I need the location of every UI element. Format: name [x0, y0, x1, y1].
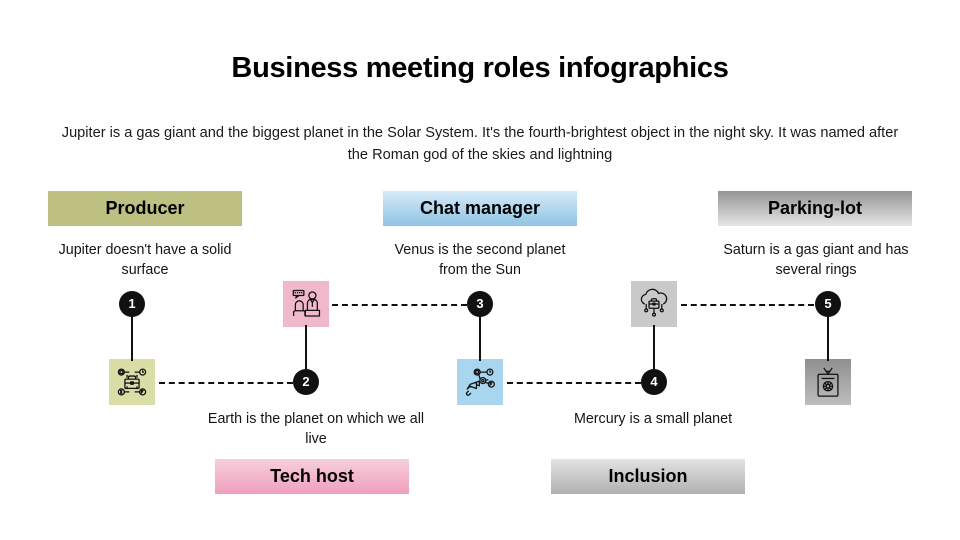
role-description-chat-manager: Venus is the second planet from the Sun	[383, 241, 577, 280]
connector-dashed-1-2	[159, 382, 293, 384]
briefcase-network-icon	[115, 365, 149, 399]
page-title: Business meeting roles infographics	[0, 52, 960, 85]
role-chip-producer[interactable]: Producer	[48, 191, 242, 226]
icon-tile-parking-lot[interactable]	[805, 359, 851, 405]
step-number-5[interactable]: 5	[815, 291, 841, 317]
page-subtitle: Jupiter is a gas giant and the biggest p…	[55, 122, 905, 166]
role-chip-producer-label: Producer	[105, 198, 184, 218]
megaphone-network-icon	[463, 365, 497, 399]
role-chip-inclusion[interactable]: Inclusion	[551, 459, 745, 494]
icon-tile-tech-host[interactable]	[283, 281, 329, 327]
role-chip-chat-manager-label: Chat manager	[420, 198, 540, 218]
role-chip-chat-manager[interactable]: Chat manager	[383, 191, 577, 226]
id-badge-icon	[811, 365, 845, 399]
role-chip-parking-lot[interactable]: Parking-lot	[718, 191, 912, 226]
icon-tile-inclusion[interactable]	[631, 281, 677, 327]
role-chip-tech-host[interactable]: Tech host	[215, 459, 409, 494]
cloud-briefcase-icon	[637, 287, 671, 321]
role-chip-inclusion-label: Inclusion	[608, 466, 687, 486]
connector-dashed-3-4	[507, 382, 641, 384]
step-number-4[interactable]: 4	[641, 369, 667, 395]
step-number-2[interactable]: 2	[293, 369, 319, 395]
role-chip-tech-host-label: Tech host	[270, 466, 354, 486]
connector-dashed-4-5	[681, 304, 814, 306]
role-chip-parking-lot-label: Parking-lot	[768, 198, 862, 218]
role-description-inclusion: Mercury is a small planet	[568, 410, 738, 430]
step-number-3[interactable]: 3	[467, 291, 493, 317]
role-description-tech-host: Earth is the planet on which we all live	[205, 410, 427, 449]
icon-tile-producer[interactable]	[109, 359, 155, 405]
step-number-1[interactable]: 1	[119, 291, 145, 317]
connector-dashed-2-3	[332, 304, 467, 306]
role-description-producer: Jupiter doesn't have a solid surface	[35, 241, 255, 280]
role-description-parking-lot: Saturn is a gas giant and has several ri…	[713, 241, 919, 280]
presenter-podium-icon	[289, 287, 323, 321]
icon-tile-chat-manager[interactable]	[457, 359, 503, 405]
